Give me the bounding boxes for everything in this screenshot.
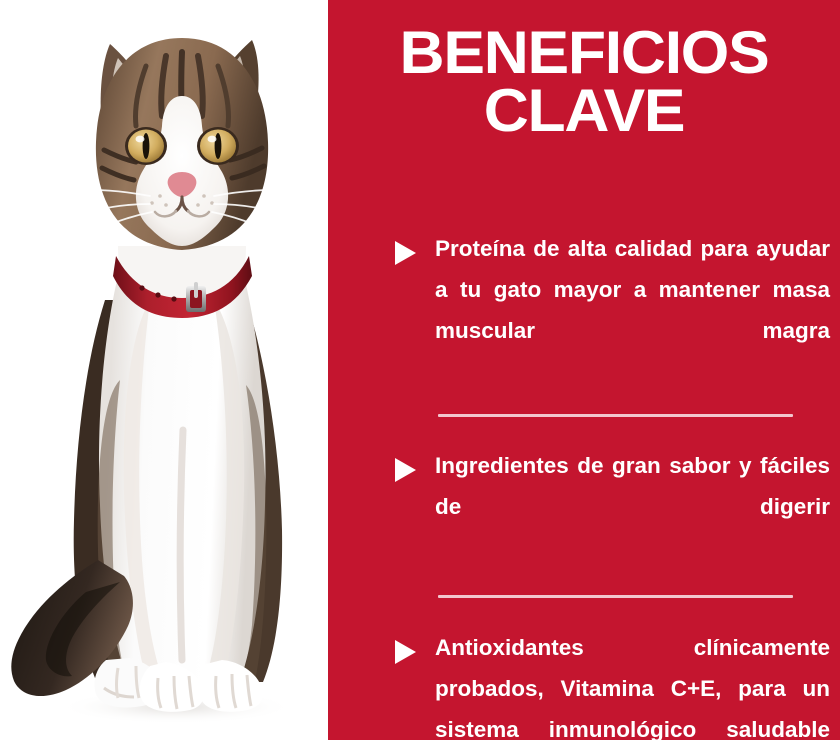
benefit-text-2: Ingredientes de gran sabor y fáciles de … <box>435 439 830 568</box>
cat-photo <box>0 0 328 740</box>
title-line-2: CLAVE <box>328 82 840 140</box>
benefits-poster: BENEFICIOS CLAVE Proteína de alta calida… <box>0 0 840 740</box>
benefit-item-2: Ingredientes de gran sabor y fáciles de … <box>328 439 840 568</box>
triangle-right-icon <box>395 640 416 664</box>
page-title: BENEFICIOS CLAVE <box>328 24 840 139</box>
triangle-right-icon <box>395 458 416 482</box>
benefits-list: Proteína de alta calidad para ayudar a t… <box>328 222 840 740</box>
benefit-item-1: Proteína de alta calidad para ayudar a t… <box>328 222 840 392</box>
cat-photo-panel <box>0 0 328 740</box>
title-line-1: BENEFICIOS <box>328 24 840 82</box>
cat-illustration <box>0 0 328 740</box>
benefit-item-3: Antioxidantes clínicamente probados, Vit… <box>328 621 840 740</box>
benefit-divider-2 <box>438 595 793 598</box>
benefit-text-1: Proteína de alta calidad para ayudar a t… <box>435 222 830 392</box>
benefits-panel: BENEFICIOS CLAVE Proteína de alta calida… <box>328 0 840 740</box>
benefit-divider-1 <box>438 414 793 417</box>
benefit-text-3: Antioxidantes clínicamente probados, Vit… <box>435 621 830 740</box>
triangle-right-icon <box>395 241 416 265</box>
